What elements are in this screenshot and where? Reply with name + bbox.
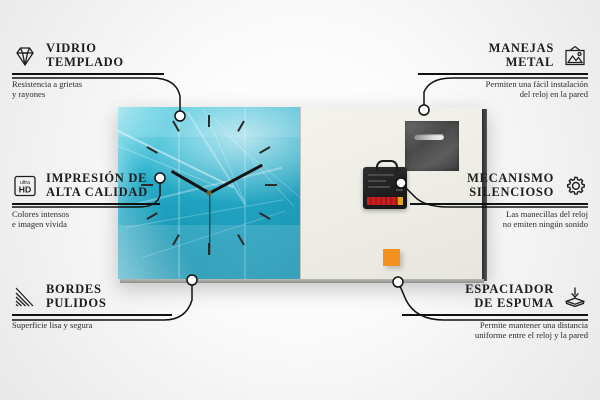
metal-hanger-plate: [405, 121, 459, 171]
feature-desc-line1: Colores intensos: [12, 209, 69, 219]
infographic-canvas: VIDRIO TEMPLADO Resistencia a grietas y …: [0, 0, 600, 400]
silent-movement-box: [363, 167, 407, 209]
feature-bordes-pulidos[interactable]: BORDES PULIDOS Superficie lisa y segura: [12, 283, 192, 330]
feature-espaciador-espuma[interactable]: ESPACIADOR DE ESPUMA Permite mantener un…: [402, 283, 588, 341]
divider: [12, 203, 160, 205]
divider: [402, 314, 588, 316]
feature-desc-line2: e imagen vívida: [12, 219, 67, 229]
hanger-slot: [414, 134, 444, 140]
second-hand: [209, 193, 210, 255]
battery-cap: [398, 197, 403, 205]
feature-desc-line1: Las manecillas del reloj: [506, 209, 588, 219]
feature-desc-line1: Superficie lisa y segura: [12, 320, 92, 330]
feature-title-line2: SILENCIOSO: [469, 185, 554, 199]
feature-title-line1: ESPACIADOR: [465, 282, 554, 296]
panel-seam: [300, 107, 301, 279]
clock-hub: [207, 191, 212, 196]
diamond-icon: [12, 44, 38, 68]
feature-title-line1: BORDES: [46, 282, 102, 296]
feature-title-line2: DE ESPUMA: [474, 296, 554, 310]
feature-title-line2: METAL: [506, 55, 554, 69]
feature-desc-line1: Permiten una fácil instalación: [486, 79, 588, 89]
feature-desc-line2: del reloj en la pared: [520, 89, 588, 99]
feature-mecanismo-silencioso[interactable]: MECANISMO SILENCIOSO Las manecillas del …: [410, 172, 588, 230]
feature-manejas-metal[interactable]: MANEJAS METAL Permiten una fácil instala…: [418, 42, 588, 100]
foam-spacer: [383, 249, 400, 266]
polished-edges-icon: [12, 285, 38, 309]
feature-title-line1: MANEJAS: [489, 41, 554, 55]
feature-title-line1: VIDRIO: [46, 41, 97, 55]
gear-icon: [562, 174, 588, 198]
feature-title-line2: ALTA CALIDAD: [46, 185, 148, 199]
feature-desc-line1: Permite mantener una distancia: [480, 320, 588, 330]
feature-impresion-alta-calidad[interactable]: ultra HD IMPRESIÓN DE ALTA CALIDAD Color…: [12, 172, 192, 230]
picture-frame-icon: [562, 44, 588, 68]
feature-title-line2: PULIDOS: [46, 296, 106, 310]
feature-title-line1: IMPRESIÓN DE: [46, 171, 147, 185]
feature-title-line1: MECANISMO: [467, 171, 554, 185]
feature-title-line2: TEMPLADO: [46, 55, 124, 69]
svg-text:HD: HD: [19, 184, 31, 194]
ultra-hd-icon: ultra HD: [12, 174, 38, 198]
hanger-loop: [376, 160, 398, 171]
feature-desc-line1: Resistencia a grietas: [12, 79, 82, 89]
feature-desc-line2: uniforme entre el reloj y la pared: [475, 330, 588, 340]
feature-vidrio-templado[interactable]: VIDRIO TEMPLADO Resistencia a grietas y …: [12, 42, 182, 100]
divider: [418, 73, 588, 75]
feature-desc-line2: y rayones: [12, 89, 45, 99]
feature-desc-line2: no emiten ningún sonido: [503, 219, 588, 229]
foam-spacer-icon: [562, 285, 588, 309]
divider: [12, 73, 164, 75]
divider: [410, 203, 588, 205]
battery: [367, 197, 403, 205]
divider: [12, 314, 172, 316]
